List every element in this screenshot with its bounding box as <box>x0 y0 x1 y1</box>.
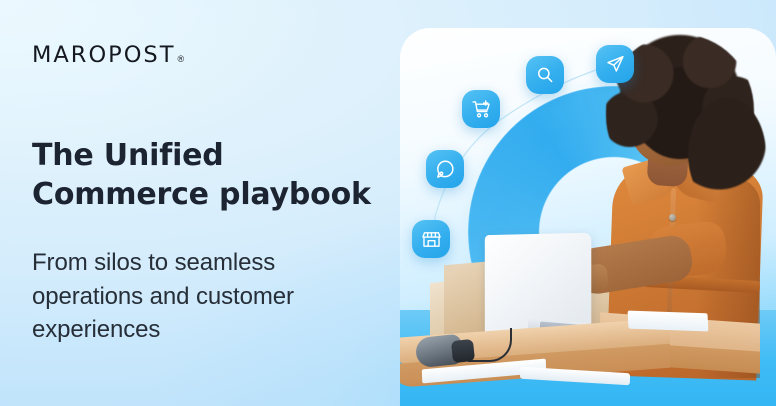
chat-icon[interactable] <box>426 150 464 188</box>
send-icon[interactable] <box>596 45 634 83</box>
jumpsuit-button <box>669 214 676 221</box>
banner-canvas: MAROPOST ® The Unified Commerce playbook… <box>0 0 776 406</box>
trademark-symbol: ® <box>177 55 184 64</box>
hero-photo <box>400 28 776 406</box>
barcode-scanner-head <box>451 339 475 363</box>
search-icon[interactable] <box>526 56 564 94</box>
cart-icon[interactable] <box>462 90 500 128</box>
page-subtitle: From silos to seamless operations and cu… <box>32 246 384 347</box>
logo-wordmark: MAROPOST <box>32 44 175 67</box>
person-hair-side <box>688 98 766 210</box>
store-icon[interactable] <box>412 220 450 258</box>
text-column: MAROPOST ® The Unified Commerce playbook… <box>32 0 392 406</box>
paper-sheet <box>628 311 709 332</box>
page-title: The Unified Commerce playbook <box>32 136 384 214</box>
maropost-logo: MAROPOST ® <box>32 44 184 67</box>
hero-image-card <box>400 28 776 406</box>
